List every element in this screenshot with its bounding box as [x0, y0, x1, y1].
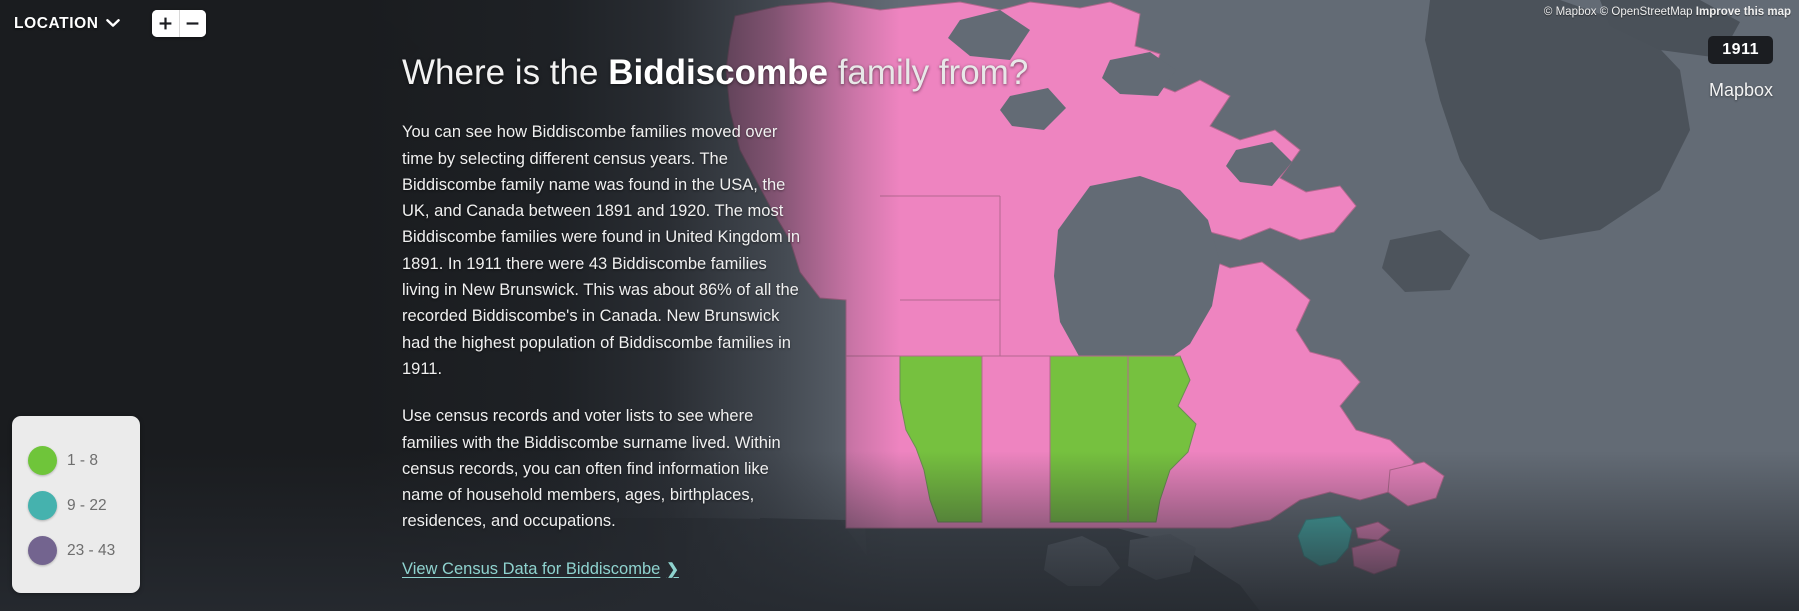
- legend-item[interactable]: 23 - 43: [12, 528, 140, 573]
- mapbox-attribution-link[interactable]: © Mapbox: [1544, 6, 1597, 18]
- description-paragraph-1: You can see how Biddiscombe families mov…: [402, 119, 802, 382]
- content-panel: Where is the Biddiscombe family from? Yo…: [402, 53, 822, 579]
- family-origin-map-page: LOCATION Where is the Biddisco: [0, 0, 1799, 611]
- legend-item-label: 23 - 43: [67, 542, 115, 560]
- headline-suffix: family from?: [828, 53, 1028, 92]
- legend-item-label: 1 - 8: [67, 452, 98, 470]
- legend-item[interactable]: 9 - 22: [12, 483, 140, 528]
- page-title: Where is the Biddiscombe family from?: [402, 53, 822, 93]
- legend-item[interactable]: 1 - 8: [12, 438, 140, 483]
- view-census-data-link-label: View Census Data for Biddiscombe: [402, 560, 660, 579]
- year-badge[interactable]: 1911: [1708, 36, 1773, 64]
- legend-item-label: 9 - 22: [67, 497, 107, 515]
- headline-surname: Biddiscombe: [608, 53, 828, 92]
- location-dropdown[interactable]: LOCATION: [12, 11, 122, 37]
- chevron-down-icon: [106, 19, 120, 28]
- openstreetmap-attribution-link[interactable]: © OpenStreetMap: [1600, 6, 1693, 18]
- mapbox-wordmark[interactable]: Mapbox: [1709, 80, 1773, 101]
- map-region-saskatchewan[interactable]: [1050, 356, 1128, 522]
- top-toolbar: LOCATION: [0, 0, 206, 37]
- zoom-in-button[interactable]: [152, 10, 179, 37]
- zoom-out-button[interactable]: [179, 10, 206, 37]
- chevron-right-icon: ❯: [666, 560, 679, 578]
- zoom-controls: [152, 10, 206, 37]
- legend-swatch-icon: [28, 446, 57, 475]
- location-dropdown-label: LOCATION: [14, 15, 99, 33]
- improve-this-map-link[interactable]: Improve this map: [1696, 6, 1791, 18]
- view-census-data-link[interactable]: View Census Data for Biddiscombe ❯: [402, 560, 679, 579]
- headline-prefix: Where is the: [402, 53, 608, 92]
- legend-swatch-icon: [28, 491, 57, 520]
- legend-swatch-icon: [28, 536, 57, 565]
- map-legend: 1 - 8 9 - 22 23 - 43: [12, 416, 140, 593]
- description-paragraph-2: Use census records and voter lists to se…: [402, 403, 802, 534]
- map-attribution: © Mapbox © OpenStreetMap Improve this ma…: [1544, 6, 1791, 18]
